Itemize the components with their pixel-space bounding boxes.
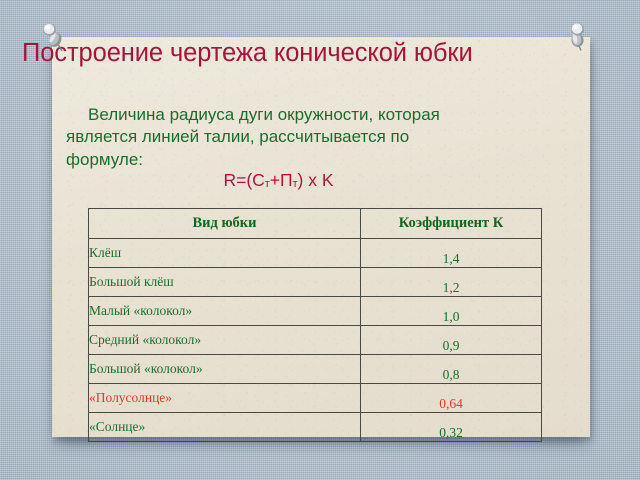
cell-coefficient-value: 1,4 — [361, 239, 542, 268]
coefficient-table: Вид юбки Коэффициент К Клёш1,4Большой кл… — [88, 208, 542, 442]
cell-skirt-type: Клёш — [89, 239, 361, 268]
column-header-skirt-type: Вид юбки — [89, 209, 361, 239]
slide-body-text: Величина радиуса дуги окружности, котора… — [66, 104, 466, 171]
cell-skirt-type: Средний «колокол» — [89, 326, 361, 355]
cell-coefficient-value: 0,8 — [361, 355, 542, 384]
column-header-coefficient: Коэффициент К — [361, 209, 542, 239]
slide-title: Построение чертежа конической юбки — [22, 39, 502, 68]
cell-coefficient-value: 0,32 — [361, 413, 542, 442]
table-row: Большой «колокол»0,8 — [89, 355, 542, 384]
cell-coefficient-value: 1,2 — [361, 268, 542, 297]
cell-coefficient-value: 0,9 — [361, 326, 542, 355]
table-header-row: Вид юбки Коэффициент К — [89, 209, 542, 239]
formula-prefix: R=(С — [223, 170, 264, 190]
formula-mid: +П — [270, 170, 293, 190]
cell-coefficient-value: 0,64 — [361, 384, 542, 413]
table-row: Малый «колокол»1,0 — [89, 297, 542, 326]
pushpin-icon-right — [565, 17, 591, 51]
cell-skirt-type: «Солнце» — [89, 413, 361, 442]
pushpin-icon-left — [40, 18, 66, 52]
cell-skirt-type: Большой клёш — [89, 268, 361, 297]
cell-skirt-type: «Полусолнце» — [89, 384, 361, 413]
table-row: Большой клёш1,2 — [89, 268, 542, 297]
cell-skirt-type: Большой «колокол» — [89, 355, 361, 384]
cell-skirt-type: Малый «колокол» — [89, 297, 361, 326]
table-row: «Полусолнце»0,64 — [89, 384, 542, 413]
formula-subscript-1: т — [265, 178, 270, 190]
formula-line: R=(Ст+Пт) x K — [66, 170, 491, 191]
formula-subscript-2: т — [293, 178, 298, 190]
table-row: «Солнце»0,32 — [89, 413, 542, 442]
cell-coefficient-value: 1,0 — [361, 297, 542, 326]
table-body: Клёш1,4Большой клёш1,2Малый «колокол»1,0… — [89, 239, 542, 442]
table-row: Средний «колокол»0,9 — [89, 326, 542, 355]
table-row: Клёш1,4 — [89, 239, 542, 268]
slide-canvas: Построение чертежа конической юбки Велич… — [0, 0, 640, 480]
formula-suffix: ) x K — [298, 170, 334, 190]
